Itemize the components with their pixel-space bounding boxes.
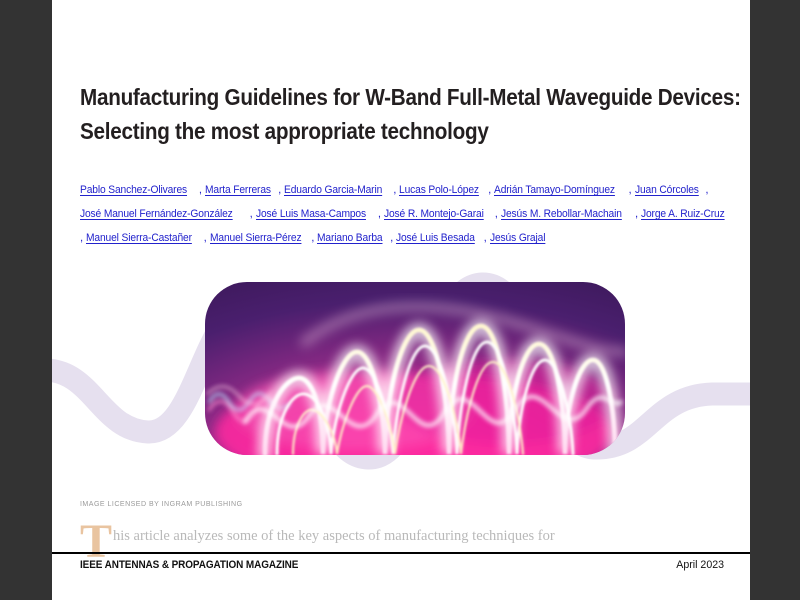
pdf-viewer-screen: Manufacturing Guidelines for W-Band Full… <box>0 0 800 600</box>
viewer-gutter-right <box>750 0 800 600</box>
body-paragraph: This article analyzes some of the key as… <box>80 527 720 559</box>
page-title-line-1: Manufacturing Guidelines for W-Band Full… <box>80 80 643 114</box>
author-link[interactable]: Mariano Barba <box>317 226 382 250</box>
author-link[interactable]: Manuel Sierra-Castañer <box>86 226 192 250</box>
author-link[interactable]: Juan Córcoles <box>635 178 699 202</box>
image-credit: IMAGE LICENSED BY INGRAM PUBLISHING <box>80 499 243 508</box>
author-link[interactable]: Jorge A. Ruiz-Cruz <box>641 202 725 226</box>
author-link[interactable]: José R. Montejo-Garai <box>384 202 484 226</box>
author-separator: , <box>378 208 384 220</box>
author-list: Pablo Sanchez-Olivares, Marta Ferreras, … <box>80 178 735 250</box>
waveform-glow-icon <box>205 282 625 455</box>
author-link[interactable]: José Manuel Fernández-González <box>80 202 233 226</box>
author-link[interactable]: José Luis Besada <box>396 226 475 250</box>
article-page: Manufacturing Guidelines for W-Band Full… <box>52 0 750 600</box>
author-link[interactable]: Jesús Grajal <box>490 226 545 250</box>
author-link[interactable]: Marta Ferreras <box>205 178 271 202</box>
author-link[interactable]: José Luis Masa-Campos <box>256 202 366 226</box>
author-separator: , <box>495 208 501 220</box>
author-link[interactable]: Adrián Tamayo-Domínguez <box>494 178 615 202</box>
article-artwork <box>52 250 750 495</box>
footer-divider <box>52 552 750 554</box>
author-link[interactable]: Lucas Polo-López <box>399 178 479 202</box>
author-link[interactable]: Eduardo Garcia-Marin <box>284 178 382 202</box>
body-text: his article analyzes some of the key asp… <box>113 528 555 544</box>
author-separator: , <box>484 232 490 244</box>
author-link[interactable]: Pablo Sanchez-Olivares <box>80 178 187 202</box>
author-separator: , <box>628 184 634 196</box>
page-title-line-2: Selecting the most appropriate technolog… <box>80 114 643 148</box>
waveform-image <box>205 282 625 455</box>
author-separator: , <box>705 184 708 196</box>
author-separator: , <box>204 232 210 244</box>
author-link[interactable]: Jesús M. Rebollar-Machain <box>501 202 622 226</box>
footer-publication: IEEE ANTENNAS & PROPAGATION MAGAZINE <box>80 559 298 571</box>
author-link[interactable]: Manuel Sierra-Pérez <box>210 226 301 250</box>
footer-issue-date: April 2023 <box>676 559 724 571</box>
page-title: Manufacturing Guidelines for W-Band Full… <box>80 80 643 148</box>
author-separator: , <box>250 208 256 220</box>
viewer-gutter-left <box>0 0 52 600</box>
page-footer: IEEE ANTENNAS & PROPAGATION MAGAZINE Apr… <box>52 556 750 580</box>
